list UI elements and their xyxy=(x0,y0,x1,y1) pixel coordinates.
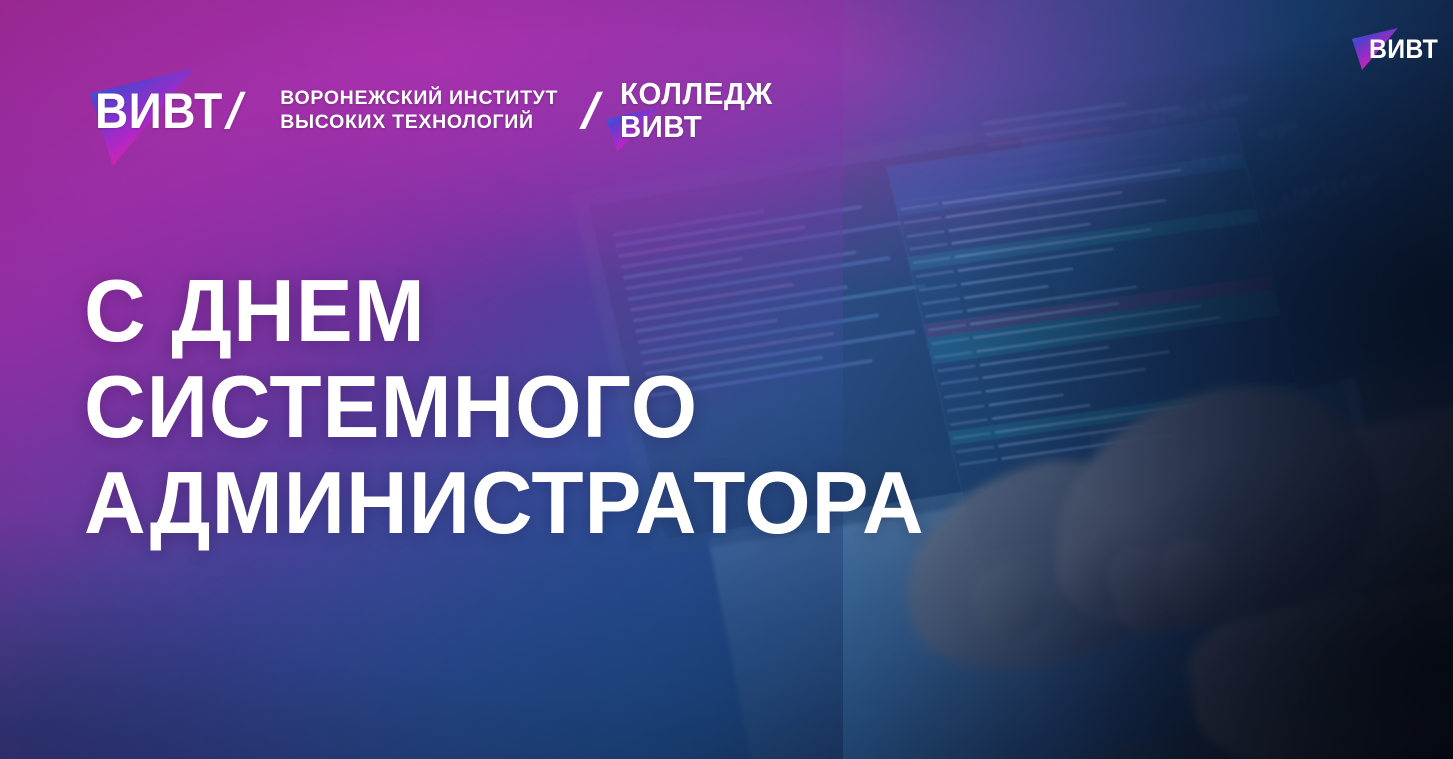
vivt-wordmark-text: ВИВТ xyxy=(95,83,223,139)
headline-line-1: С ДНЕМ xyxy=(84,263,925,359)
tagline-line-2: ВЫСОКИХ ТЕХНОЛОГИЙ xyxy=(280,111,558,135)
headline-line-2: СИСТЕМНОГО xyxy=(84,359,925,455)
promo-banner: </section> </div> </p> </section> </arti… xyxy=(0,0,1453,759)
corner-vivt-wordmark: ВИВТ xyxy=(1358,34,1438,65)
headline: С ДНЕМ СИСТЕМНОГО АДМИНИСТРАТОРА xyxy=(84,263,925,551)
headline-line-3: АДМИНИСТРАТОРА xyxy=(84,455,925,551)
college-label: КОЛЛЕДЖ xyxy=(620,78,773,111)
vivt-logo[interactable]: ВИВТ/ xyxy=(95,63,254,158)
college-wordmark: ВИВТ xyxy=(620,111,773,144)
vivt-wordmark: ВИВТ/ xyxy=(95,86,241,136)
logo-slash-icon: / xyxy=(222,86,248,136)
corner-vivt-logo[interactable]: ВИВТ xyxy=(1358,28,1445,70)
tagline-line-1: ВОРОНЕЖСКИЙ ИНСТИТУТ xyxy=(280,87,558,111)
college-logo[interactable]: КОЛЛЕДЖ ВИВТ xyxy=(620,78,781,144)
header-logo-lockup[interactable]: ВИВТ/ ВОРОНЕЖСКИЙ ИНСТИТУТ ВЫСОКИХ ТЕХНО… xyxy=(95,63,781,158)
lockup-divider-slash: / xyxy=(577,86,605,136)
institute-tagline: ВОРОНЕЖСКИЙ ИНСТИТУТ ВЫСОКИХ ТЕХНОЛОГИЙ xyxy=(280,87,558,135)
